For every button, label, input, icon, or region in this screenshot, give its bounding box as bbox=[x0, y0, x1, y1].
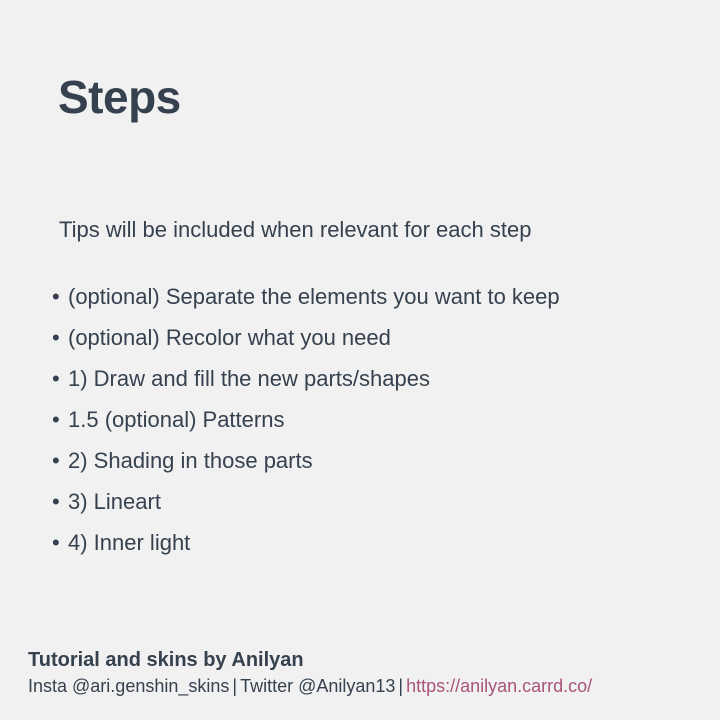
footer: Tutorial and skins by Anilyan Insta @ari… bbox=[28, 648, 708, 698]
list-item-label: 3) Lineart bbox=[68, 481, 161, 522]
twitter-handle: Twitter @Anilyan13 bbox=[240, 676, 395, 696]
bullet-icon: • bbox=[52, 522, 68, 563]
page-title: Steps bbox=[58, 73, 181, 121]
list-item: • 2) Shading in those parts bbox=[52, 440, 692, 481]
slide-canvas: Steps Tips will be included when relevan… bbox=[0, 0, 720, 720]
list-item: • (optional) Recolor what you need bbox=[52, 317, 692, 358]
list-item: • 3) Lineart bbox=[52, 481, 692, 522]
footer-credit-line: Tutorial and skins by Anilyan bbox=[28, 648, 708, 673]
list-item-label: 1.5 (optional) Patterns bbox=[68, 399, 284, 440]
list-item-label: (optional) Separate the elements you wan… bbox=[68, 276, 560, 317]
footer-handles-line: Insta @ari.genshin_skins|Twitter @Anilya… bbox=[28, 675, 708, 698]
footer-separator: | bbox=[229, 676, 240, 696]
list-item: • 1) Draw and fill the new parts/shapes bbox=[52, 358, 692, 399]
bullet-icon: • bbox=[52, 276, 68, 317]
footer-separator: | bbox=[395, 676, 406, 696]
list-item: • 1.5 (optional) Patterns bbox=[52, 399, 692, 440]
list-item-label: (optional) Recolor what you need bbox=[68, 317, 391, 358]
bullet-icon: • bbox=[52, 358, 68, 399]
list-item: • 4) Inner light bbox=[52, 522, 692, 563]
list-item-label: 2) Shading in those parts bbox=[68, 440, 313, 481]
bullet-icon: • bbox=[52, 317, 68, 358]
website-link[interactable]: https://anilyan.carrd.co/ bbox=[406, 676, 592, 696]
intro-text: Tips will be included when relevant for … bbox=[59, 216, 531, 245]
bullet-icon: • bbox=[52, 481, 68, 522]
list-item: • (optional) Separate the elements you w… bbox=[52, 276, 692, 317]
steps-list: • (optional) Separate the elements you w… bbox=[52, 276, 692, 563]
bullet-icon: • bbox=[52, 399, 68, 440]
instagram-handle: Insta @ari.genshin_skins bbox=[28, 676, 229, 696]
list-item-label: 4) Inner light bbox=[68, 522, 190, 563]
bullet-icon: • bbox=[52, 440, 68, 481]
list-item-label: 1) Draw and fill the new parts/shapes bbox=[68, 358, 430, 399]
